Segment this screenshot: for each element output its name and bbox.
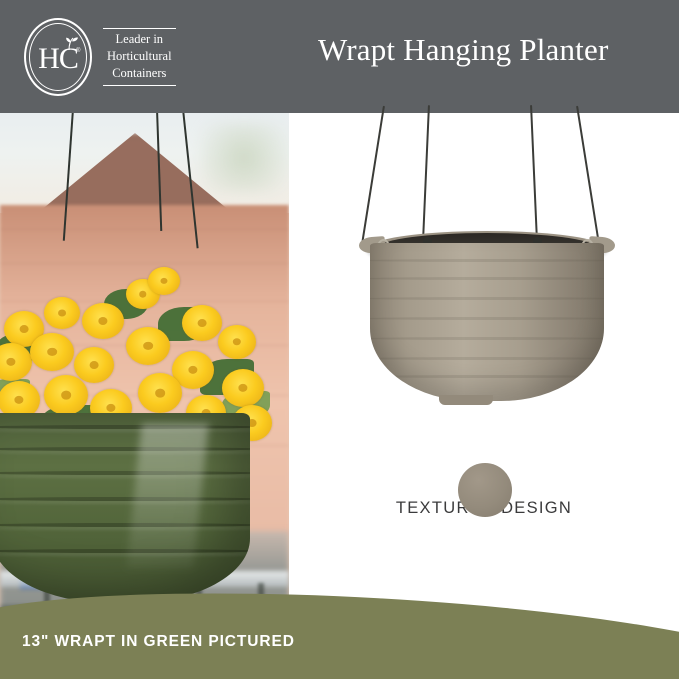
banner-caption: 13" WRAPT IN GREEN PICTURED xyxy=(22,633,295,651)
tagline-line-3: Containers xyxy=(112,66,166,82)
planter-body xyxy=(370,243,604,401)
brand-tagline: Leader in Horticultural Containers xyxy=(103,28,176,85)
lifestyle-photo xyxy=(0,113,289,679)
photo-tree xyxy=(200,123,289,193)
tagline-line-1: Leader in xyxy=(116,32,164,48)
hanger-wire xyxy=(361,106,385,245)
logo-monogram: HC xyxy=(24,18,92,96)
product-hanging-planter-illustration xyxy=(347,113,627,413)
color-caption: COLOR: PEPPERSTONE xyxy=(289,648,679,667)
hanger-wire xyxy=(530,105,538,241)
photo-green-planter xyxy=(0,413,250,603)
tagline-line-2: Horticultural xyxy=(107,49,172,65)
color-swatch xyxy=(458,463,512,517)
registered-trademark-icon: ® xyxy=(76,48,80,54)
brand-logo-lockup: HC ® Leader in Horticultural Containers xyxy=(24,18,176,96)
hc-logo-mark: HC ® xyxy=(24,18,92,96)
product-marketing-image: HC ® Leader in Horticultural Containers … xyxy=(0,0,679,679)
hanger-wire xyxy=(422,105,430,241)
hanger-wire xyxy=(576,106,600,245)
page-title: Wrapt Hanging Planter xyxy=(318,32,608,68)
product-panel: TEXTURED DESIGN COLOR: PEPPERSTONE xyxy=(289,113,679,679)
header-bar: HC ® Leader in Horticultural Containers … xyxy=(0,0,679,113)
planter-base xyxy=(439,395,493,405)
